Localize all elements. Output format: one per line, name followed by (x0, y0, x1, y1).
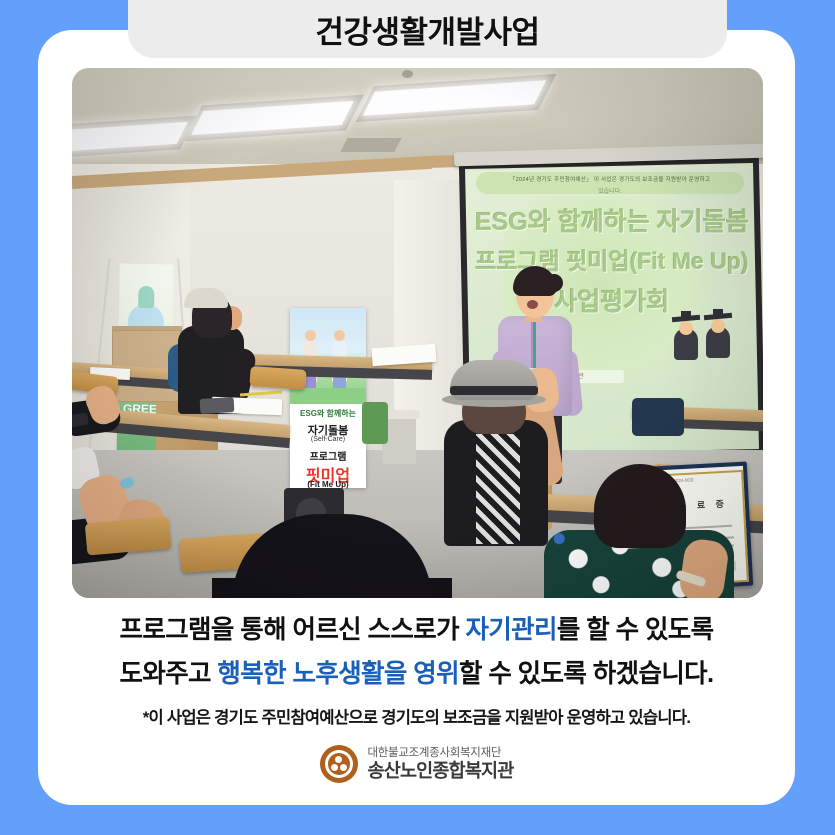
caption-line-2-part-1: 도와주고 (119, 660, 217, 688)
photo-vignette (72, 68, 763, 598)
event-photo: 「2024년 경기도 주민참여예산」 이 사업은 경기도의 보조금을 지원받아 … (72, 68, 763, 598)
title-bar: 건강생활개발사업 (128, 0, 727, 58)
organization-name: 송산노인종합복지관 (368, 760, 514, 781)
caption-line-2: 도와주고 행복한 노후생활을 영위할 수 있도록 하겠습니다. (38, 652, 795, 696)
jogye-order-logo-icon (320, 745, 358, 783)
caption-line-1-accent: 자기관리 (465, 616, 556, 644)
caption-line-1: 프로그램을 통해 어르신 스스로가 자기관리를 할 수 있도록 (38, 608, 795, 652)
caption-line-2-accent: 행복한 노후생활을 영위 (217, 660, 459, 688)
caption-line-2-part-2: 할 수 있도록 하겠습니다. (459, 660, 714, 688)
organization-parent-name: 대한불교조계종사회복지재단 (368, 747, 514, 760)
organization-text: 대한불교조계종사회복지재단 송산노인종합복지관 (368, 747, 514, 781)
caption-line-1-part-1: 프로그램을 통해 어르신 스스로가 (119, 616, 465, 644)
caption-line-1-part-2: 를 할 수 있도록 (557, 616, 714, 644)
caption-footnote: *이 사업은 경기도 주민참여예산으로 경기도의 보조금을 지원받아 운영하고 … (38, 704, 795, 728)
page-title: 건강생활개발사업 (315, 7, 539, 52)
caption-block: 프로그램을 통해 어르신 스스로가 자기관리를 할 수 있도록 도와주고 행복한… (38, 608, 795, 728)
organization-footer: 대한불교조계종사회복지재단 송산노인종합복지관 (38, 745, 795, 783)
